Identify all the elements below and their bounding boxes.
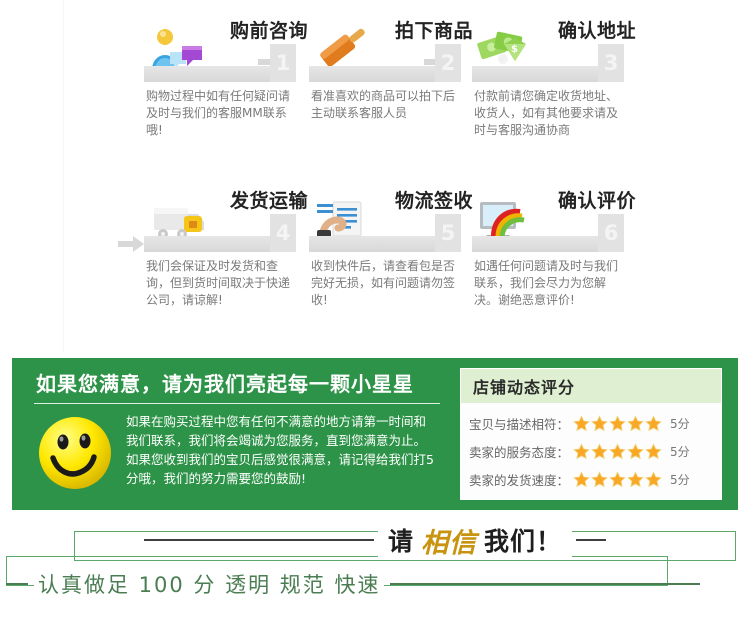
rating-card-title: 店铺动态评分 [461, 369, 721, 403]
step-2-plate: 2 [309, 66, 461, 82]
step-3: $ 3 确认地址 付款前请您确定收货地址、收货人，如有其他要求请及时与客服沟通协… [468, 12, 638, 139]
shopping-steps-section: 1 购前咨询 购物过程中如有任何疑问请及时与我们的客服MM联系哦! [0, 0, 750, 352]
smiley-face-icon [36, 414, 114, 492]
star-icon [627, 415, 644, 432]
step-5-number: 5 [435, 214, 461, 252]
rating-label: 卖家的发货速度： [469, 470, 573, 489]
step-4: 4 发货运输 我们会保证及时发货和查询，但到货时间取决于快递公司，请谅解! [140, 182, 310, 309]
step-5-title: 物流签收 [395, 186, 473, 213]
slogan-dash-left [6, 583, 28, 585]
trust-prefix: 请 [384, 522, 418, 558]
rating-label: 宝贝与描述相符： [469, 414, 573, 433]
step-6-number: 6 [598, 214, 624, 252]
star-icon [627, 443, 644, 460]
step-1: 1 购前咨询 购物过程中如有任何疑问请及时与我们的客服MM联系哦! [140, 12, 310, 139]
star-icon [609, 471, 626, 488]
step-2-title: 拍下商品 [395, 16, 473, 43]
trust-highlight: 相信 [418, 521, 480, 560]
step-4-desc: 我们会保证及时发货和查询，但到货时间取决于快递公司，请谅解! [140, 258, 298, 309]
trust-suffix: 我们！ [480, 522, 566, 558]
step-4-plate: 4 [144, 236, 296, 252]
star-icon [609, 415, 626, 432]
rating-row: 宝贝与描述相符： 5分 [469, 409, 721, 437]
step-1-head: 1 购前咨询 [140, 12, 310, 82]
rating-score: 5分 [670, 471, 690, 488]
step-2: 2 拍下商品 看准喜欢的商品可以拍下后主动联系客服人员 [305, 12, 475, 122]
star-rating [573, 471, 662, 488]
rule-left [144, 539, 374, 541]
step-4-number: 4 [270, 214, 296, 252]
step-4-title: 发货运输 [230, 186, 308, 213]
rule-right [576, 539, 606, 541]
star-icon [645, 443, 662, 460]
step-6-title: 确认评价 [558, 186, 636, 213]
star-icon [591, 415, 608, 432]
steps-row-2: 4 发货运输 我们会保证及时发货和查询，但到货时间取决于快递公司，请谅解! [0, 182, 750, 350]
star-icon [645, 415, 662, 432]
satisfaction-body: 如果在购买过程中您有任何不满意的地方请第一时间和我们联系，我们将会竭诚为您服务，… [30, 414, 442, 506]
step-5-head: 5 物流签收 [305, 182, 475, 252]
step-3-plate: 3 [472, 66, 624, 82]
star-icon [627, 471, 644, 488]
shop-rating-card: 店铺动态评分 宝贝与描述相符： 5分 卖家的服务态度： [460, 368, 722, 500]
step-2-desc: 看准喜欢的商品可以拍下后主动联系客服人员 [305, 88, 463, 122]
star-rating [573, 443, 662, 460]
star-icon [573, 471, 590, 488]
rating-score: 5分 [670, 415, 690, 432]
rating-score: 5分 [670, 443, 690, 460]
slogan-line: 认真做足 100 分 透明 规范 快速 [0, 564, 750, 604]
star-icon [573, 443, 590, 460]
step-1-title: 购前咨询 [230, 16, 308, 43]
star-icon [573, 415, 590, 432]
star-icon [609, 443, 626, 460]
step-6-plate: 6 [472, 236, 624, 252]
slogan-text: 认真做足 100 分 透明 规范 快速 [34, 569, 384, 599]
satisfaction-left: 如果您满意，请为我们亮起每一颗小星星 [30, 368, 442, 500]
step-1-number: 1 [270, 44, 296, 82]
step-1-plate: 1 [144, 66, 296, 82]
divider [34, 403, 440, 404]
step-6-desc: 如遇任何问题请及时与我们联系，我们会尽力为您解决。谢绝恶意评价! [468, 258, 626, 309]
satisfaction-text: 如果在购买过程中您有任何不满意的地方请第一时间和我们联系，我们将会竭诚为您服务，… [126, 412, 438, 488]
slogan-dash-right [390, 583, 700, 585]
step-5-plate: 5 [309, 236, 461, 252]
step-6-head: 6 确认评价 [468, 182, 638, 252]
step-3-desc: 付款前请您确定收货地址、收货人，如有其他要求请及时与客服沟通协商 [468, 88, 626, 139]
step-3-head: $ 3 确认地址 [468, 12, 638, 82]
step-3-number: 3 [598, 44, 624, 82]
step-2-head: 2 拍下商品 [305, 12, 475, 82]
rating-row: 卖家的发货速度： 5分 [469, 465, 721, 493]
step-5-desc: 收到快件后，请查看包是否完好无损，如有问题请勿签收! [305, 258, 463, 309]
trust-text: 请 相信 我们！ [378, 521, 572, 560]
trust-line: 请 相信 我们！ [0, 520, 750, 560]
satisfaction-panel: 如果您满意，请为我们亮起每一颗小星星 [12, 358, 738, 510]
step-5: 5 物流签收 收到快件后，请查看包是否完好无损，如有问题请勿签收! [305, 182, 475, 309]
step-3-title: 确认地址 [558, 16, 636, 43]
rating-row: 卖家的服务态度： 5分 [469, 437, 721, 465]
star-icon [591, 471, 608, 488]
star-icon [645, 471, 662, 488]
step-6: 6 确认评价 如遇任何问题请及时与我们联系，我们会尽力为您解决。谢绝恶意评价! [468, 182, 638, 309]
star-rating [573, 415, 662, 432]
steps-row-1: 1 购前咨询 购物过程中如有任何疑问请及时与我们的客服MM联系哦! [0, 12, 750, 180]
step-1-desc: 购物过程中如有任何疑问请及时与我们的客服MM联系哦! [140, 88, 298, 139]
promo-page: 1 购前咨询 购物过程中如有任何疑问请及时与我们的客服MM联系哦! [0, 0, 750, 624]
svg-text:$: $ [511, 44, 518, 55]
rating-label: 卖家的服务态度： [469, 442, 573, 461]
bottom-banner: 请 相信 我们！ 认真做足 100 分 透明 规范 快速 [0, 512, 750, 624]
star-icon [591, 443, 608, 460]
step-4-head: 4 发货运输 [140, 182, 310, 252]
step-2-number: 2 [435, 44, 461, 82]
satisfaction-heading: 如果您满意，请为我们亮起每一颗小星星 [30, 368, 442, 397]
rating-rows: 宝贝与描述相符： 5分 卖家的服务态度： [461, 403, 721, 493]
